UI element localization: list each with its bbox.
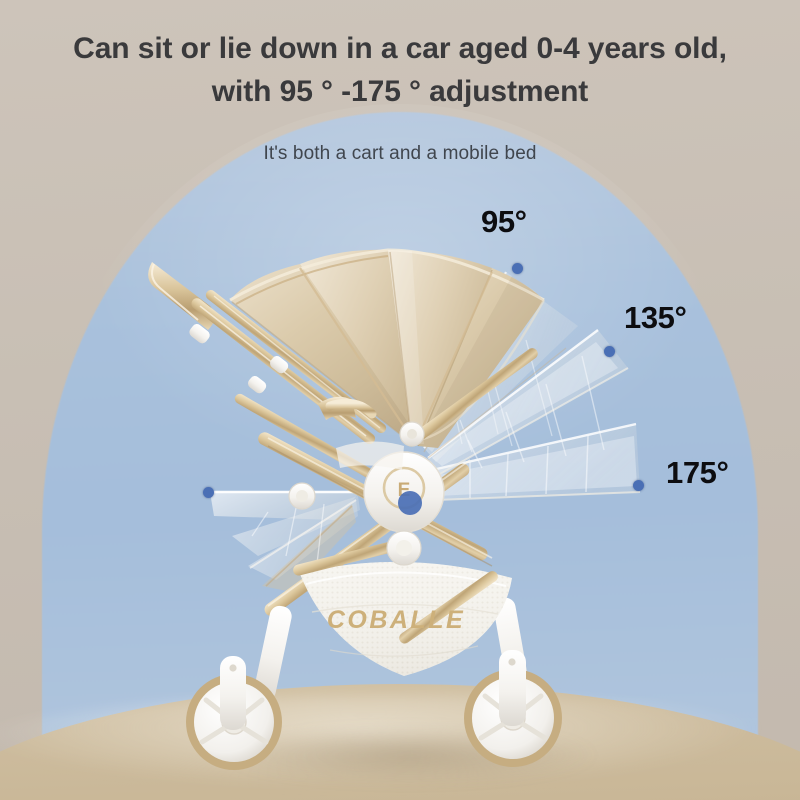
- angle-label-175: 175°: [666, 455, 729, 491]
- angle-marker-135-dot: [604, 346, 615, 357]
- footrest-marker-dot: [203, 487, 214, 498]
- stroller-illustration: COBALLE E: [0, 0, 800, 800]
- front-wheel: [464, 650, 562, 767]
- angle-marker-175-dot: [633, 480, 644, 491]
- angle-label-135: 135°: [624, 300, 687, 336]
- angle-label-95: 95°: [481, 204, 527, 240]
- angle-marker-95-dot: [512, 263, 523, 274]
- product-marketing-image: Can sit or lie down in a car aged 0-4 ye…: [0, 0, 800, 800]
- brand-wordmark: COBALLE: [327, 606, 465, 634]
